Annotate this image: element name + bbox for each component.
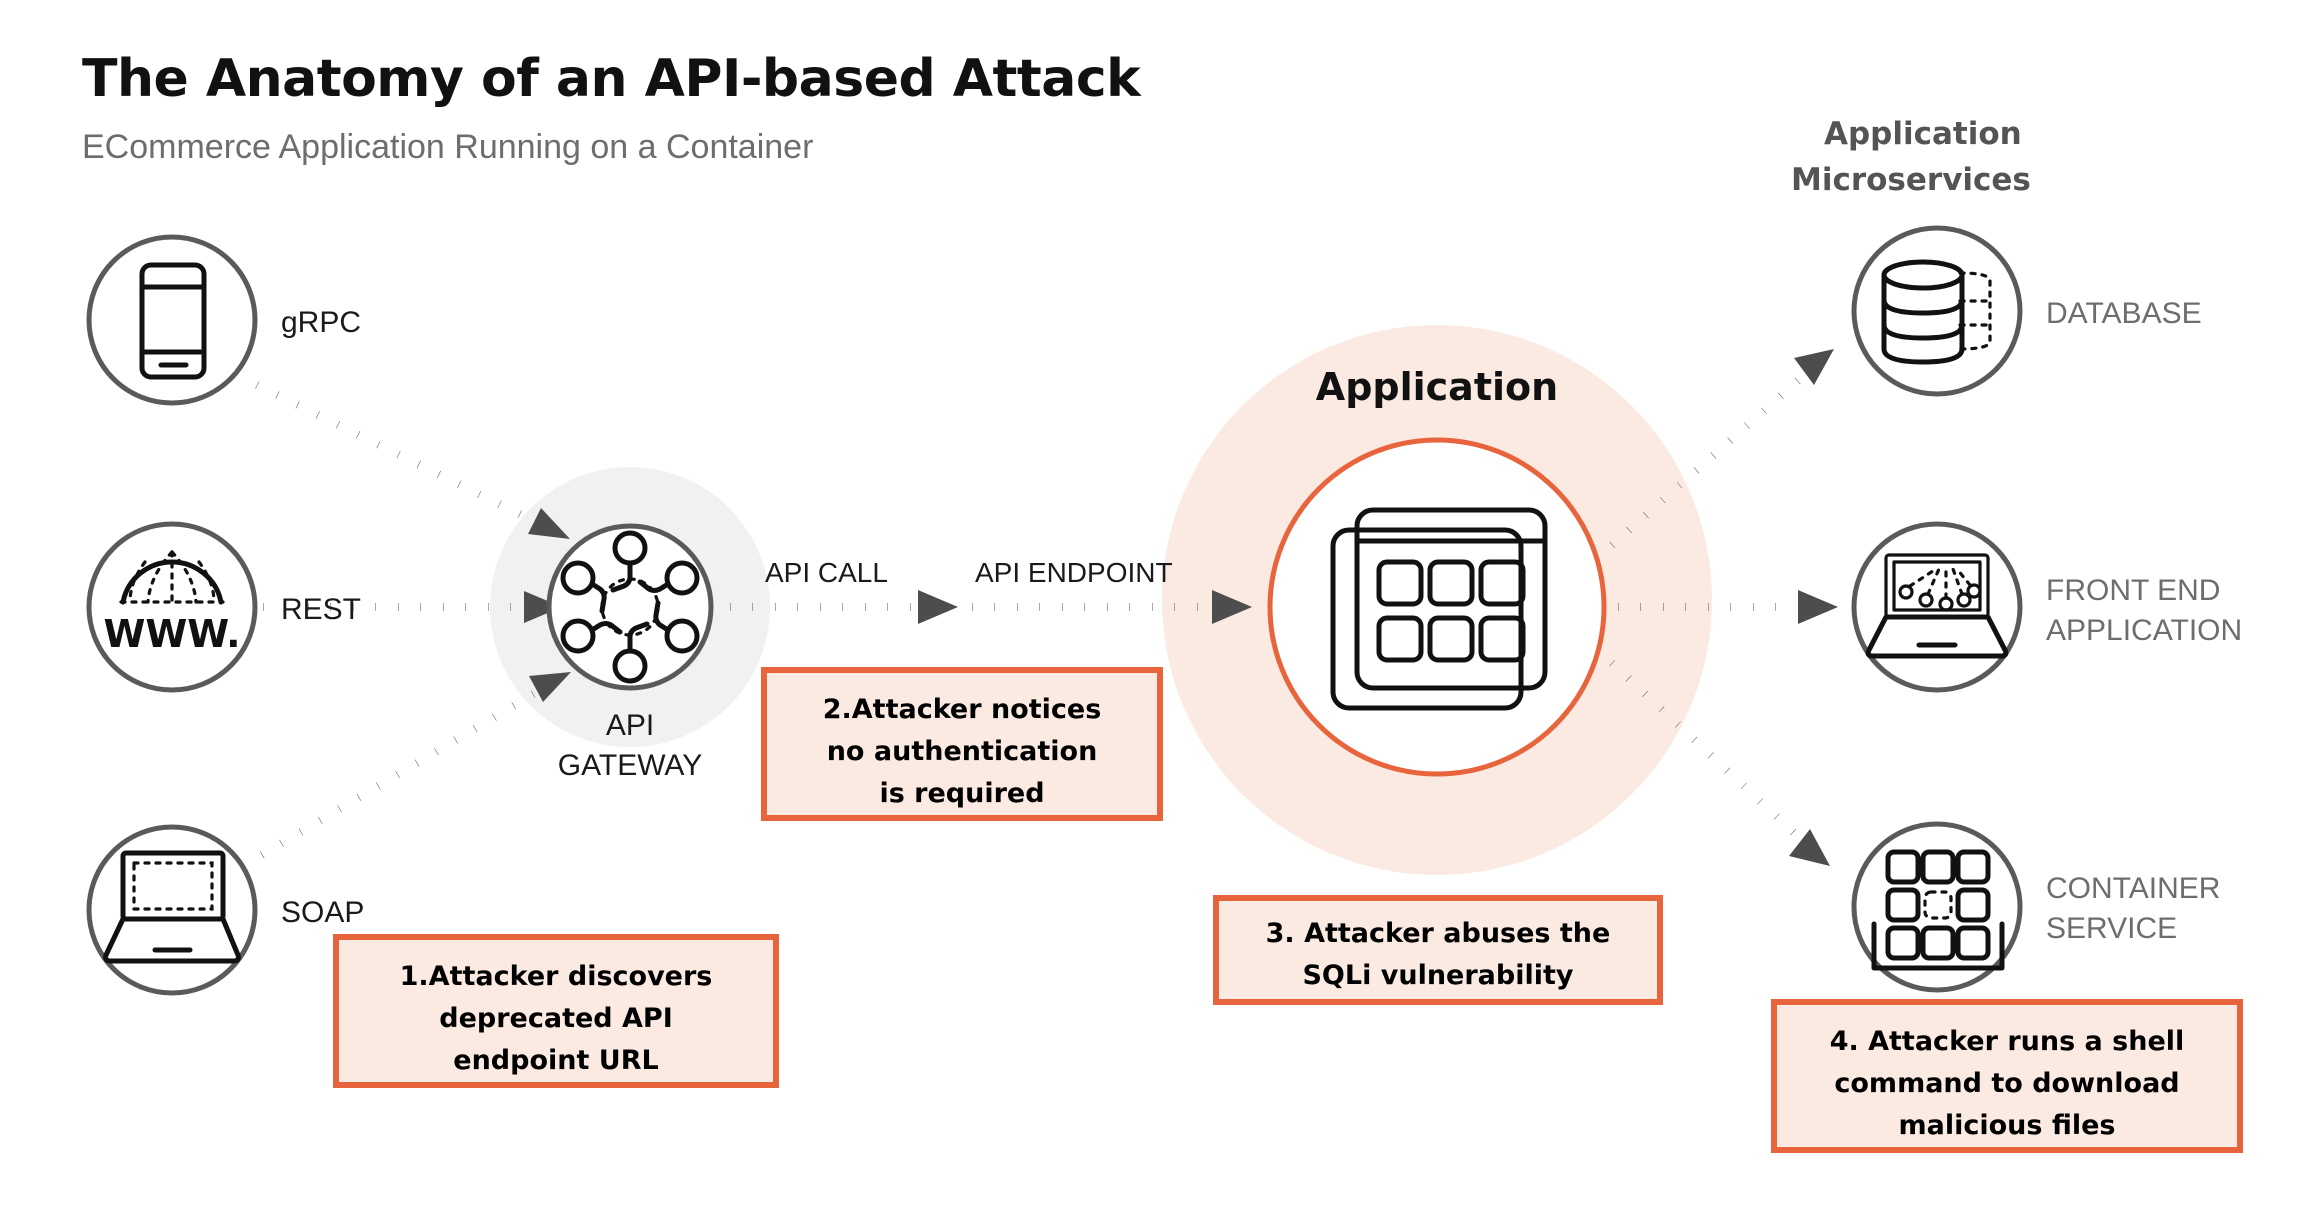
page-subtitle: ECommerce Application Running on a Conta… bbox=[82, 128, 813, 166]
callout-step-1-line3: endpoint URL bbox=[453, 1045, 658, 1076]
application-heading: Application bbox=[1316, 365, 1558, 409]
flow-label-api-endpoint: API ENDPOINT bbox=[975, 557, 1173, 588]
flow-label-api-call: API CALL bbox=[765, 557, 888, 588]
frontend-node-ring bbox=[1854, 524, 2020, 690]
database-node-label: DATABASE bbox=[2046, 297, 2202, 330]
callout-step-1: 1.Attacker discovers deprecated API endp… bbox=[336, 937, 776, 1085]
client-node-soap[interactable]: SOAP bbox=[89, 827, 364, 993]
container-node-label-line2: SERVICE bbox=[2046, 912, 2177, 945]
client-node-rest[interactable]: WWW. REST bbox=[89, 524, 361, 690]
gateway-node-ring bbox=[549, 526, 711, 688]
microservices-heading-line2: Microservices bbox=[1791, 162, 2031, 198]
microservice-node-frontend[interactable]: FRONT END APPLICATION bbox=[1854, 524, 2242, 690]
callout-step-1-line2: deprecated API bbox=[439, 1003, 673, 1034]
frontend-node-label-line2: APPLICATION bbox=[2046, 614, 2242, 647]
container-node-ring bbox=[1854, 824, 2020, 990]
callout-step-2-line3: is required bbox=[879, 778, 1044, 809]
connector-soap-to-gateway bbox=[262, 672, 571, 855]
microservice-node-container[interactable]: CONTAINER SERVICE bbox=[1854, 824, 2220, 990]
callout-step-2: 2.Attacker notices no authentication is … bbox=[764, 670, 1160, 818]
rest-node-label: REST bbox=[281, 593, 361, 626]
svg-text:WWW.: WWW. bbox=[103, 612, 240, 656]
soap-node-label: SOAP bbox=[281, 896, 364, 929]
callout-step-3-line1: 3. Attacker abuses the bbox=[1266, 918, 1611, 949]
callout-step-2-line2: no authentication bbox=[827, 736, 1098, 767]
gateway-label-line2: GATEWAY bbox=[558, 749, 702, 782]
callout-step-3-line2: SQLi vulnerability bbox=[1302, 960, 1573, 991]
microservice-node-database[interactable]: DATABASE bbox=[1854, 228, 2202, 394]
grpc-node-label: gRPC bbox=[281, 306, 361, 339]
callout-step-4-line2: command to download bbox=[1834, 1068, 2179, 1099]
client-node-grpc[interactable]: gRPC bbox=[89, 237, 361, 403]
microservices-heading-line1: Application bbox=[1824, 116, 2022, 152]
application-node-circle bbox=[1270, 440, 1604, 774]
callout-step-3: 3. Attacker abuses the SQLi vulnerabilit… bbox=[1216, 898, 1660, 1002]
rest-node-ring bbox=[89, 524, 255, 690]
diagram-canvas: The Anatomy of an API-based Attack EComm… bbox=[0, 0, 2314, 1212]
anatomy-of-api-attack-diagram: The Anatomy of an API-based Attack EComm… bbox=[0, 0, 2314, 1212]
callout-step-4-line1: 4. Attacker runs a shell bbox=[1830, 1026, 2185, 1057]
gateway-label-line1: API bbox=[606, 709, 654, 742]
container-node-label-line1: CONTAINER bbox=[2046, 872, 2220, 905]
callout-step-2-line1: 2.Attacker notices bbox=[823, 694, 1102, 725]
connector-grpc-to-gateway bbox=[257, 385, 570, 539]
page-title: The Anatomy of an API-based Attack bbox=[82, 49, 1142, 109]
callout-step-4: 4. Attacker runs a shell command to down… bbox=[1774, 1002, 2240, 1150]
callout-step-4-line3: malicious files bbox=[1898, 1110, 2115, 1141]
callout-step-1-line1: 1.Attacker discovers bbox=[400, 961, 713, 992]
frontend-node-label-line1: FRONT END bbox=[2046, 574, 2220, 607]
